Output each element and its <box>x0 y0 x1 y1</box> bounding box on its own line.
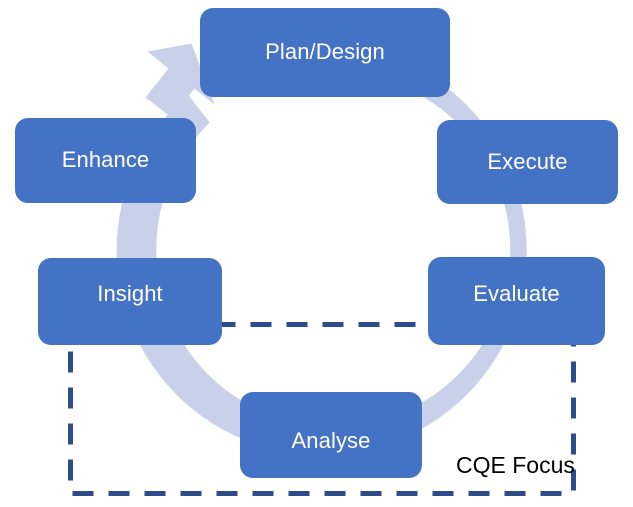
node-enhance-label: Enhance <box>62 148 150 172</box>
node-analyse-label: Analyse <box>292 429 371 453</box>
node-analyse[interactable]: Analyse <box>240 392 422 478</box>
node-insight[interactable]: Insight <box>38 258 222 345</box>
node-evaluate[interactable]: Evaluate <box>428 257 605 345</box>
node-execute-label: Execute <box>487 150 567 174</box>
node-plan-design[interactable]: Plan/Design <box>200 8 450 97</box>
node-execute[interactable]: Execute <box>437 120 618 204</box>
node-enhance[interactable]: Enhance <box>15 118 196 203</box>
node-plan-design-label: Plan/Design <box>265 40 385 64</box>
node-insight-label: Insight <box>97 282 163 306</box>
diagram-canvas: Plan/Design Enhance Execute Insight Eval… <box>0 0 633 507</box>
cqe-focus-caption: CQE Focus <box>456 452 575 478</box>
node-evaluate-label: Evaluate <box>473 282 559 306</box>
